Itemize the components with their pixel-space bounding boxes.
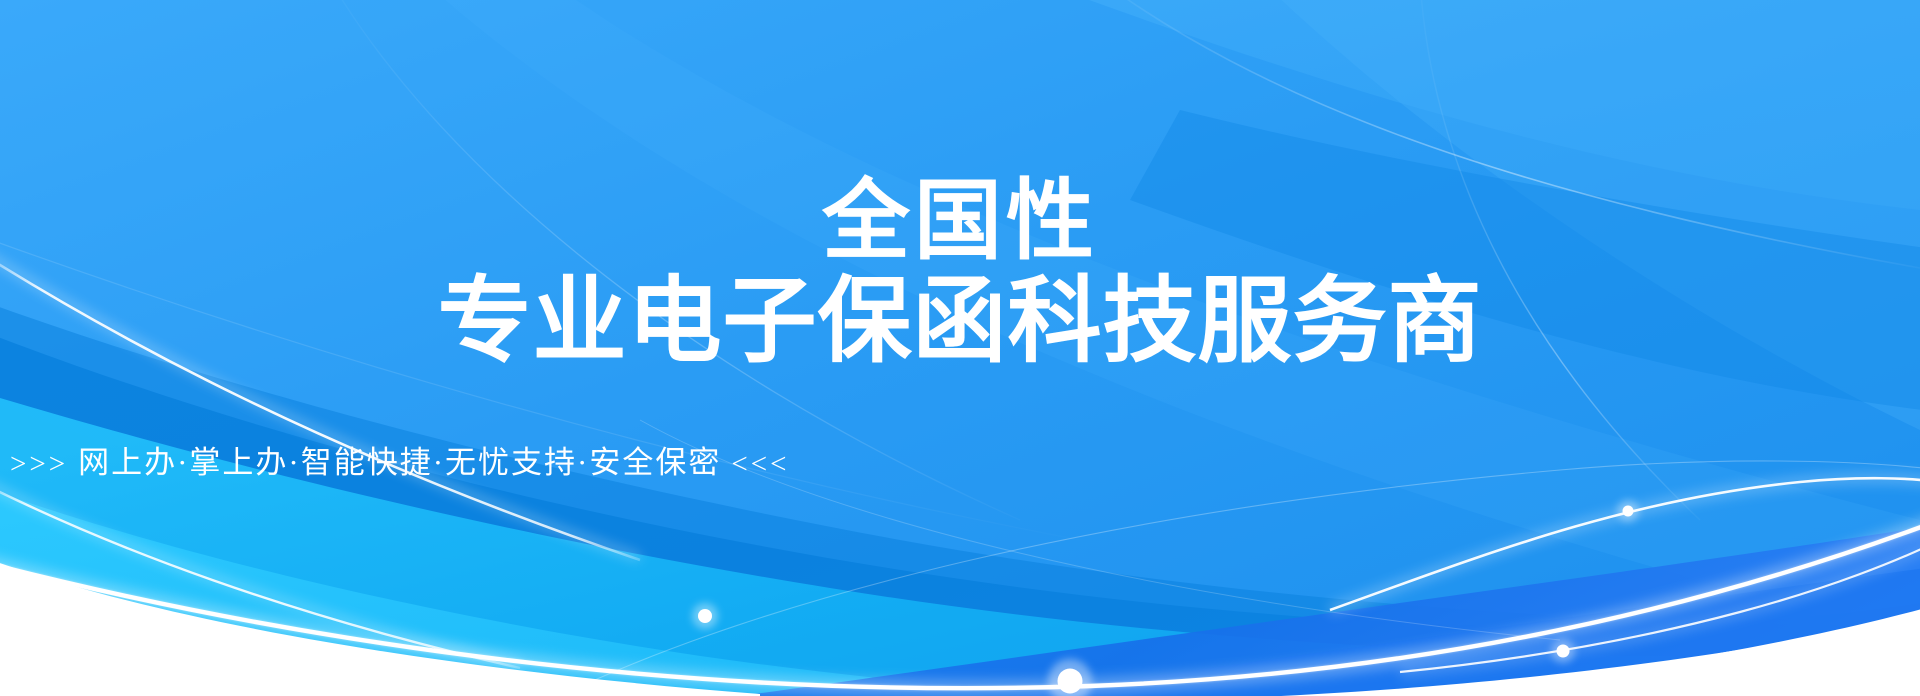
decor-dot-right-lower xyxy=(1557,645,1570,658)
hero-banner: 全国性 专业电子保函科技服务商 >>>网上办·掌上办·智能快捷·无忧支持·安全保… xyxy=(0,0,1920,696)
decor-dot-right-upper xyxy=(1623,506,1634,517)
decor-dot-left-curve xyxy=(698,609,712,623)
banner-background xyxy=(0,0,1920,696)
decor-dot-center-curve xyxy=(1058,669,1083,694)
